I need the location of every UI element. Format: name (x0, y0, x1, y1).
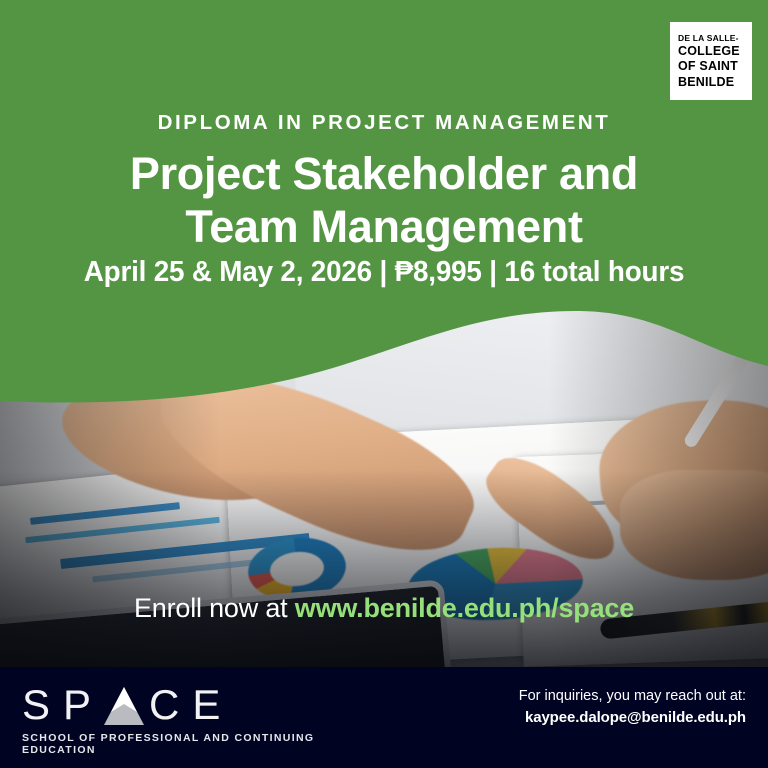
photo-vignette-bottom (0, 470, 768, 700)
course-title-line-1: Project Stakeholder and (0, 147, 768, 200)
course-promo-poster: DE LA SALLE- COLLEGE OF SAINT BENILDE DI… (0, 0, 768, 768)
course-title: Project Stakeholder and Team Management (0, 147, 768, 253)
inquiries-email[interactable]: kaypee.dalope@benilde.edu.ph (519, 707, 746, 729)
space-letter-e: E (192, 683, 233, 727)
space-mountain-icon (104, 687, 144, 725)
space-tagline: SCHOOL OF PROFESSIONAL AND CONTINUING ED… (22, 732, 352, 756)
logo-line-of-saint: OF SAINT (678, 59, 752, 75)
enroll-prefix-label: Enroll now at (134, 593, 295, 623)
enroll-url-link[interactable]: www.benilde.edu.ph/space (295, 593, 634, 623)
benilde-logo: DE LA SALLE- COLLEGE OF SAINT BENILDE (670, 22, 752, 100)
inquiries-label: For inquiries, you may reach out at: (519, 685, 746, 707)
space-wordmark: S P C E (22, 681, 352, 727)
enroll-cta: Enroll now at www.benilde.edu.ph/space (0, 593, 768, 624)
space-letter-c: C (149, 683, 192, 727)
course-title-line-2: Team Management (0, 200, 768, 253)
space-letter-p: P (63, 683, 104, 727)
logo-line-college: COLLEGE (678, 44, 752, 60)
logo-line-benilde: BENILDE (678, 75, 752, 91)
program-kicker: DIPLOMA IN PROJECT MANAGEMENT (0, 111, 768, 135)
footer-bar: S P C E SCHOOL OF PROFESSIONAL AND CONTI… (0, 667, 768, 768)
logo-line-de-la-salle: DE LA SALLE- (678, 32, 752, 44)
space-letter-s: S (22, 683, 63, 727)
space-logo: S P C E SCHOOL OF PROFESSIONAL AND CONTI… (22, 681, 352, 756)
inquiries-block: For inquiries, you may reach out at: kay… (519, 685, 746, 729)
course-details: April 25 & May 2, 2026 | ₱8,995 | 16 tot… (15, 256, 752, 289)
